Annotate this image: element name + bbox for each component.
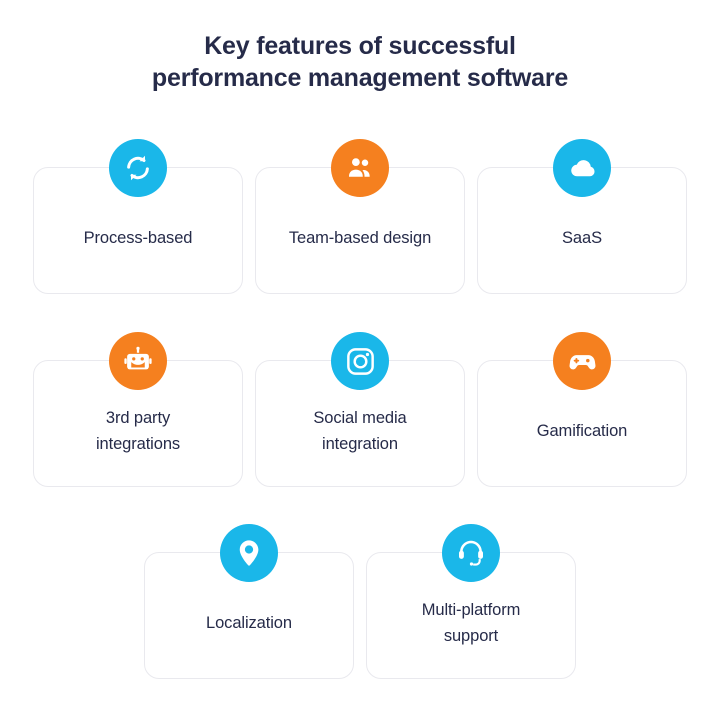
headset-icon — [442, 524, 500, 582]
feature-card-label: SaaS — [562, 225, 602, 251]
instagram-icon — [331, 332, 389, 390]
feature-row-1: Process-basedTeam-based designSaaS — [0, 167, 720, 294]
feature-card[interactable]: Process-based — [33, 167, 243, 294]
location-pin-icon — [220, 524, 278, 582]
feature-card-label: Team-based design — [289, 225, 431, 251]
feature-card[interactable]: 3rd party integrations — [33, 360, 243, 487]
feature-card-label: Multi-platform support — [422, 597, 521, 649]
feature-card-label: Gamification — [537, 418, 628, 444]
feature-card-label: 3rd party integrations — [96, 405, 180, 457]
people-group-icon — [331, 139, 389, 197]
feature-card-label: Localization — [206, 610, 292, 636]
feature-card-label: Process-based — [84, 225, 193, 251]
feature-card[interactable]: Multi-platform support — [366, 552, 576, 679]
infographic-root: Key features of successful performance m… — [0, 0, 720, 712]
sync-arrows-icon — [109, 139, 167, 197]
feature-card[interactable]: SaaS — [477, 167, 687, 294]
feature-card[interactable]: Social media integration — [255, 360, 465, 487]
feature-row-3: LocalizationMulti-platform support — [0, 552, 720, 679]
feature-card-grid: Process-basedTeam-based designSaaS 3rd p… — [0, 0, 720, 712]
robot-icon — [109, 332, 167, 390]
feature-card[interactable]: Gamification — [477, 360, 687, 487]
feature-card[interactable]: Team-based design — [255, 167, 465, 294]
feature-card[interactable]: Localization — [144, 552, 354, 679]
gamepad-icon — [553, 332, 611, 390]
feature-row-2: 3rd party integrationsSocial media integ… — [0, 360, 720, 487]
cloud-icon — [553, 139, 611, 197]
feature-card-label: Social media integration — [313, 405, 406, 457]
